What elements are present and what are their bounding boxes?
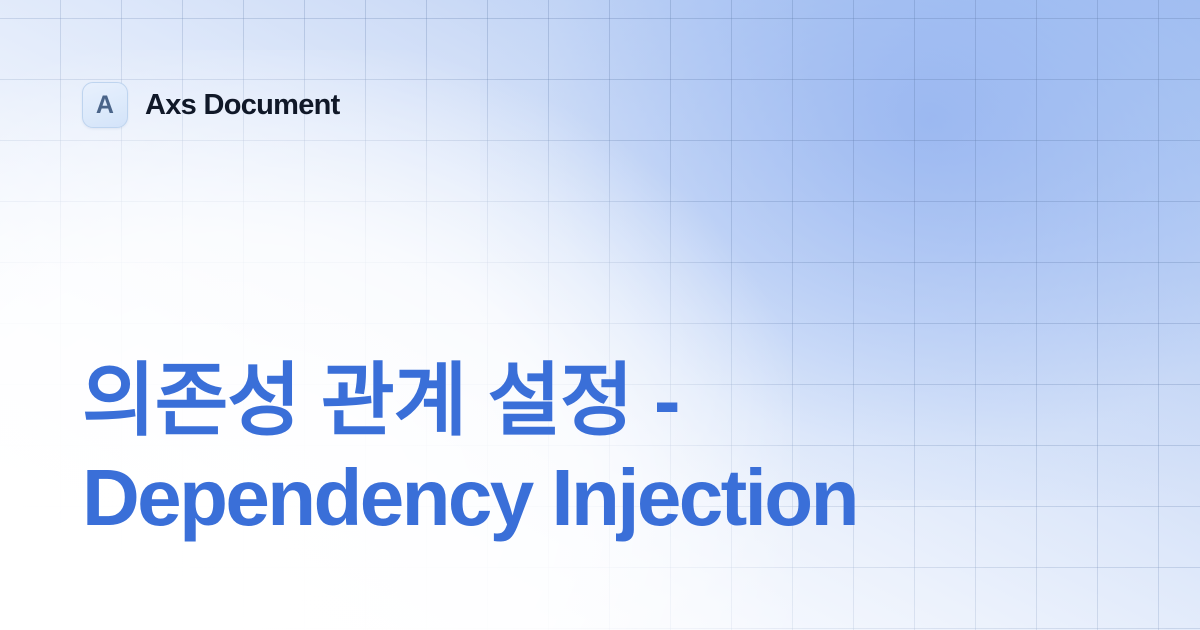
axs-logo-letter: A — [96, 93, 114, 118]
axs-logo-icon: A — [82, 82, 128, 128]
brand-name: Axs Document — [145, 89, 340, 122]
brand-header: A Axs Document — [82, 82, 340, 128]
og-card: A Axs Document 의존성 관계 설정 - Dependency In… — [0, 0, 1200, 630]
page-title-line-secondary: Dependency Injection — [82, 449, 1102, 546]
page-title: 의존성 관계 설정 - Dependency Injection — [82, 352, 1102, 546]
page-title-line-primary: 의존성 관계 설정 - — [82, 352, 1102, 449]
